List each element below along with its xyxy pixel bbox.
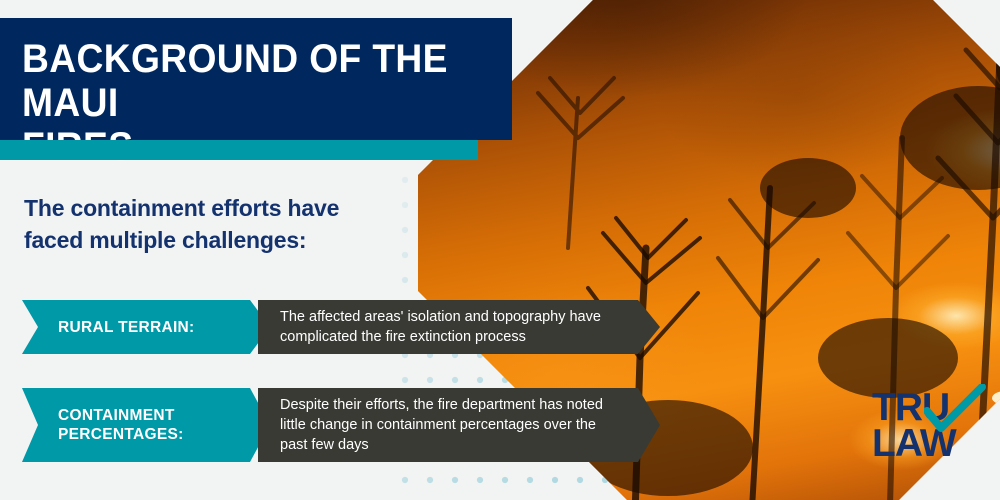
infographic-canvas: BACKGROUND OF THE MAUI FIRES The contain… [0, 0, 1000, 500]
checkmark-icon [924, 384, 986, 436]
title-banner: BACKGROUND OF THE MAUI FIRES [0, 18, 512, 140]
callout-row: CONTAINMENT PERCENTAGES: Despite their e… [22, 388, 660, 462]
callout-label: RURAL TERRAIN: [22, 300, 270, 354]
callout-label: CONTAINMENT PERCENTAGES: [22, 388, 270, 462]
callout-body: Despite their efforts, the fire departme… [258, 388, 660, 462]
callout-row: RURAL TERRAIN: The affected areas' isola… [22, 300, 660, 354]
trulaw-logo[interactable]: TRU LAW [872, 388, 982, 464]
subtitle-text: The containment efforts have faced multi… [24, 192, 424, 256]
title-underbar [0, 140, 478, 160]
callout-body: The affected areas' isolation and topogr… [258, 300, 660, 354]
